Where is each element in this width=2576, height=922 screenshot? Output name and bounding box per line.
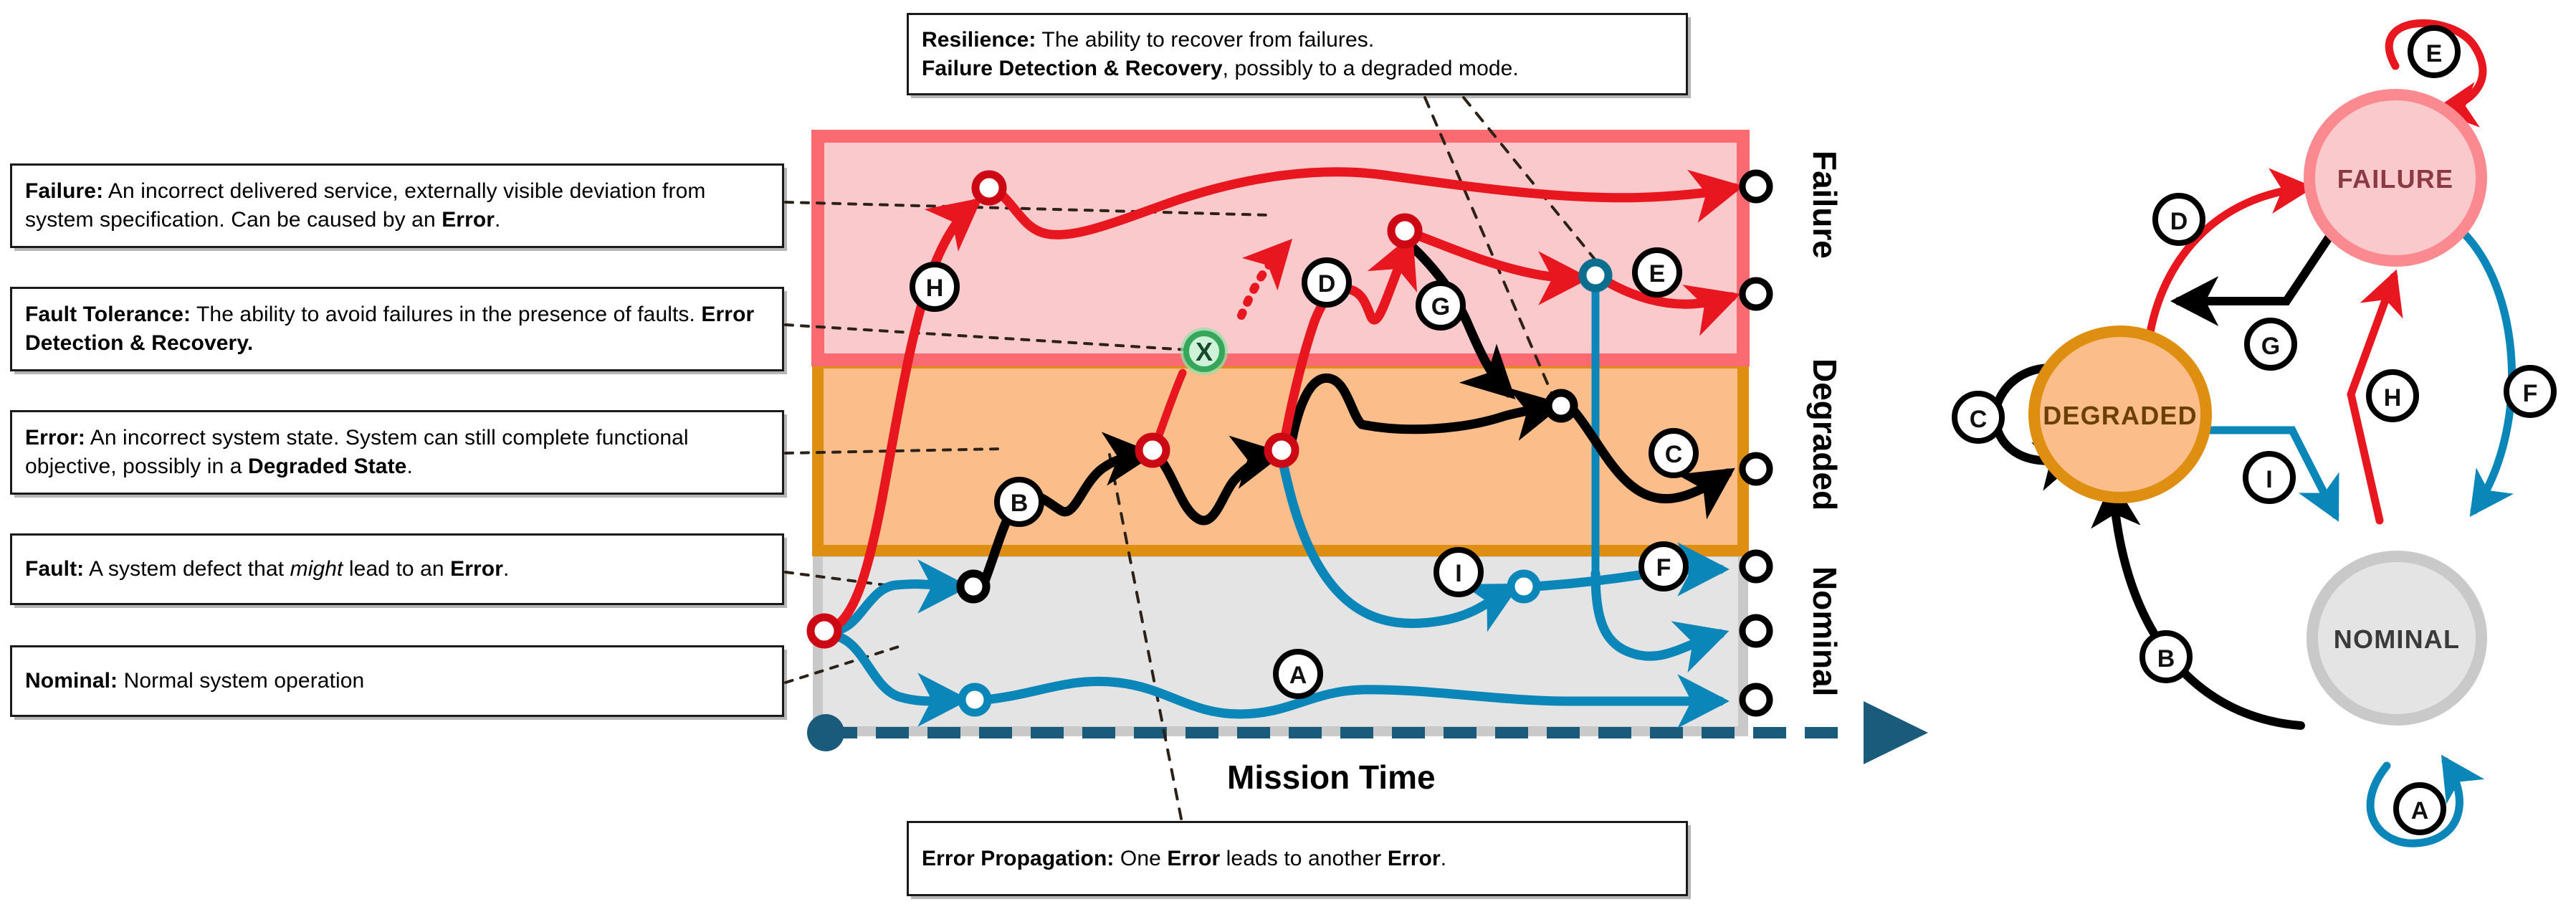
diagram-root: Failure: An incorrect delivered service,… [0,0,2576,922]
band-label-nominal: Nominal [1806,566,1843,696]
timeline-badge-B: B [997,480,1041,524]
badge-label-B: B [1011,490,1029,517]
time-axis-origin-dot [807,714,844,751]
edge-G-failure-to-failure [2179,237,2329,301]
timeline-badge-E: E [1635,250,1679,295]
badge-label-H: H [926,275,944,302]
node-error-2 [1268,437,1295,464]
state-badge-A: A [2396,785,2443,832]
node-fault-origin [811,617,838,645]
timeline-badge-A: A [1276,652,1320,696]
node-failure-teal [1583,262,1608,288]
badge-label-state-E: E [2426,40,2443,67]
badge-label-F: F [1656,554,1671,581]
band-labels: Failure Degraded Nominal [1806,151,1843,696]
node-failure-2 [1391,217,1418,244]
node-nominal-recovered [1511,574,1537,599]
timeline-badge-G: G [1418,283,1463,328]
state-label-failure: FAILURE [2337,164,2453,194]
node-error-1 [1139,437,1166,464]
node-degraded-1 [1548,393,1574,419]
band-label-failure: Failure [1806,151,1843,259]
state-badge-G: G [2247,320,2294,368]
badge-label-E: E [1649,260,1666,287]
node-failure-1 [975,174,1003,201]
node-nominal-start [960,574,986,599]
node-nominal-lower-start [962,687,988,713]
band-failure [818,136,1743,360]
badge-label-I: I [1455,560,1461,587]
badge-label-G: G [1431,293,1450,320]
edge-B-nominal-to-degraded [2113,488,2301,726]
badge-label-state-C: C [1970,406,1988,433]
timeline-badge-F: F [1641,544,1686,589]
badge-label-state-F: F [2523,380,2538,407]
state-badge-I: I [2246,454,2293,501]
badge-label-state-I: I [2266,466,2272,493]
time-axis-arrowhead [1864,701,1928,764]
timeline-badge-I: I [1436,550,1481,594]
timeline-badge-C: C [1651,431,1696,475]
badge-label-state-A: A [2411,797,2429,824]
axis-title-mission-time: Mission Time [1227,759,1436,796]
band-label-degraded: Degraded [1806,358,1843,510]
state-badge-B: B [2142,633,2190,680]
timeline-badge-H: H [912,265,957,309]
edge-F-failure-to-nominal [2458,228,2512,510]
badge-label-A: A [1289,662,1307,689]
state-badge-F: F [2506,368,2554,415]
badge-label-state-B: B [2157,645,2175,673]
badge-label-state-H: H [2384,384,2402,412]
state-machine: FAILURE DEGRADED NOMINAL E [1955,23,2554,843]
badge-label-C: C [1665,441,1683,468]
node-terminal-failure-1 [1742,173,1770,200]
badge-label-state-D: D [2170,208,2188,235]
state-badge-C: C [1955,394,2002,441]
node-terminal-nominal-2 [1742,617,1770,645]
timeline-badge-D: D [1304,260,1349,305]
fault-tolerance-block-marker: X [1180,328,1228,375]
state-node-failure[interactable]: FAILURE [2309,95,2481,261]
node-terminal-degraded [1742,455,1770,483]
state-label-degraded: DEGRADED [2043,401,2198,430]
x-marker-label: X [1196,337,1213,366]
badge-label-state-G: G [2261,333,2280,360]
node-terminal-failure-2 [1742,280,1770,308]
node-terminal-nominal-1 [1742,553,1770,580]
state-node-degraded[interactable]: DEGRADED [2034,331,2206,498]
state-badge-E: E [2410,28,2458,75]
state-node-nominal[interactable]: NOMINAL [2312,556,2481,720]
state-label-nominal: NOMINAL [2334,624,2460,654]
node-terminal-nominal-3 [1742,686,1770,713]
state-badge-D: D [2155,196,2203,243]
badge-label-D: D [1318,270,1336,298]
state-badge-H: H [2369,372,2416,419]
diagram-svg: Failure Degraded Nominal Mission Time [0,0,2576,922]
